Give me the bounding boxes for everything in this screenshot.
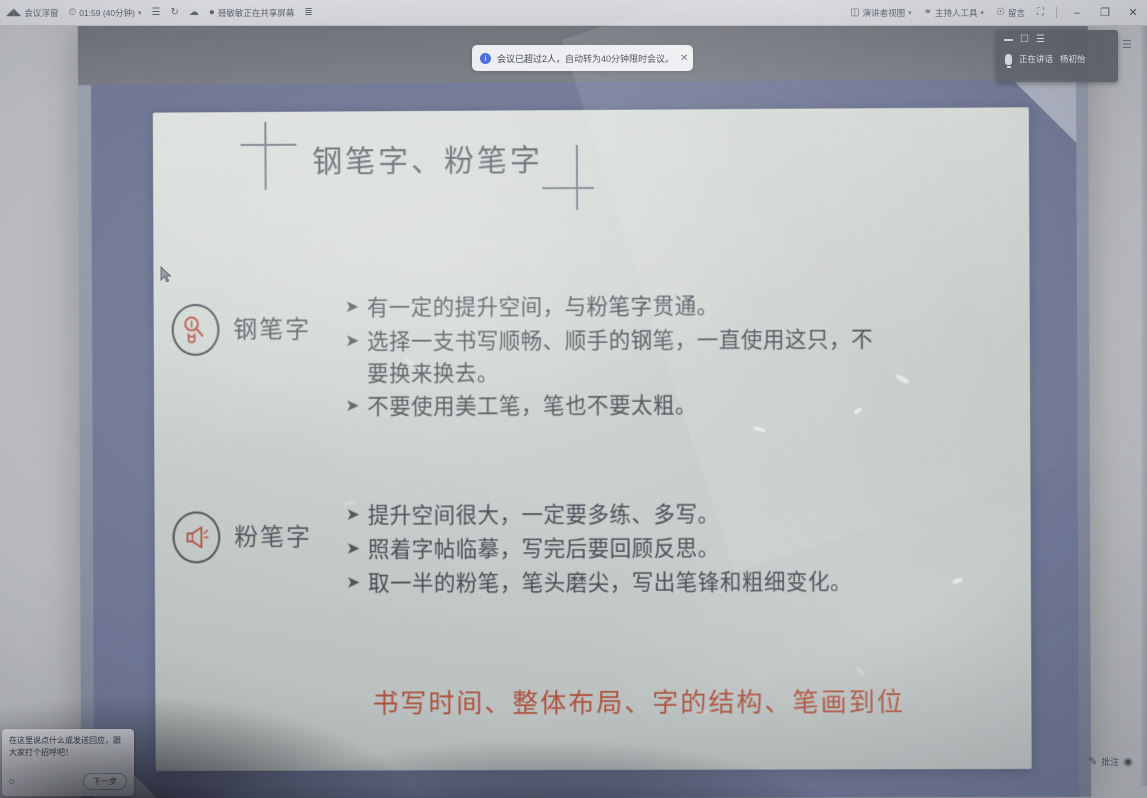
toolbar-right-group: ◫ 演讲者视图 ▾ ⚭ 主持人工具 ▾ ☉ 留言 ⛶ – ❐ ✕ bbox=[850, 6, 1147, 19]
info-icon: i bbox=[480, 53, 491, 64]
meeting-toolbar: ◢◣ 会议浮窗 ⏲ 01:59 (40分钟) ▾ ☰ ↻ ☁ ● 聂敏敏正在共享… bbox=[0, 0, 1147, 26]
refresh-icon: ↻ bbox=[170, 8, 178, 18]
cross-vertical bbox=[264, 122, 266, 190]
bullet-list-pen: ➤ 有一定的提升空间，与粉笔字贯通。 ➤ 选择一支书写顺畅、顺手的钢笔，一直使用… bbox=[345, 291, 876, 427]
dust-speck bbox=[952, 577, 963, 584]
dust-speck bbox=[895, 374, 910, 385]
network-signal-button[interactable]: ☰ bbox=[151, 8, 160, 18]
speaker-float-panel[interactable]: ☐ ☰ 正在讲话 杨初怡 bbox=[996, 30, 1118, 82]
cross-horizontal bbox=[241, 144, 297, 146]
bullet-text: 照着字帖临摹，写完后要回顾反思。 bbox=[368, 533, 876, 567]
cross-mark-icon-right bbox=[542, 145, 594, 210]
presenter-view-button[interactable]: ◫ 演讲者视图 ▾ bbox=[850, 7, 911, 19]
cloud-icon: ☁ bbox=[189, 8, 199, 18]
chevron-down-icon: ▾ bbox=[908, 9, 912, 17]
section-label-pen: 钢笔字 bbox=[233, 309, 311, 344]
fullscreen-icon: ⛶ bbox=[1037, 8, 1044, 18]
comment-icon: ☉ bbox=[996, 8, 1005, 18]
meeting-float-label: 会议浮窗 bbox=[24, 7, 58, 19]
pen-glyph bbox=[183, 315, 209, 345]
window-minimize-button[interactable]: – bbox=[1069, 7, 1085, 19]
bullet-arrow-icon: ➤ bbox=[346, 535, 368, 562]
bullet-arrow-icon: ➤ bbox=[345, 293, 367, 320]
window-maximize-button[interactable]: ❐ bbox=[1097, 6, 1113, 19]
emoji-icon[interactable] bbox=[9, 779, 14, 784]
chevron-down-icon: ▾ bbox=[138, 9, 142, 17]
fullscreen-button[interactable]: ⛶ bbox=[1037, 8, 1044, 18]
bullet-item: ➤ 有一定的提升空间，与粉笔字贯通。 bbox=[345, 291, 875, 325]
slide-section-pen: 钢笔字 ➤ 有一定的提升空间，与粉笔字贯通。 ➤ 选择一支书写顺畅、顺手的钢笔，… bbox=[171, 291, 875, 427]
share-screen-label: 聂敏敏正在共享屏幕 bbox=[218, 7, 295, 19]
dust-speck bbox=[753, 426, 766, 433]
refresh-button[interactable]: ↻ bbox=[170, 8, 178, 18]
bullet-item: ➤ 照着字帖临摹，写完后要回顾反思。 bbox=[346, 533, 876, 567]
meeting-timer-label: 01:59 (40分钟) bbox=[79, 7, 135, 19]
presenter-view-label: 演讲者视图 bbox=[863, 7, 906, 19]
projected-screen-area: 钢笔字、粉笔字 钢笔字 ➤ bbox=[78, 19, 1091, 798]
toolbar-divider bbox=[1056, 7, 1057, 18]
float-panel-body: 正在讲话 杨初怡 bbox=[996, 50, 1118, 65]
host-tools-label: 主持人工具 bbox=[935, 7, 978, 19]
timer-icon: ⏲ bbox=[68, 8, 76, 18]
annotate-toolbar[interactable]: ✎ 批注 ◉ bbox=[1088, 755, 1133, 768]
bullet-text: 有一定的提升空间，与粉笔字贯通。 bbox=[367, 291, 875, 325]
host-tools-button[interactable]: ⚭ 主持人工具 ▾ bbox=[924, 7, 984, 19]
notification-text: 会议已超过2人，自动转为40分钟限时会议。 bbox=[497, 52, 674, 65]
list-icon[interactable]: ☰ bbox=[1036, 35, 1045, 45]
bullet-item: ➤ 提升空间很大，一定要多练、多写。 bbox=[346, 499, 876, 533]
meeting-duration-notification: i 会议已超过2人，自动转为40分钟限时会议。 ✕ bbox=[472, 45, 693, 71]
signal-icon: ☰ bbox=[151, 8, 160, 18]
bullet-arrow-icon: ➤ bbox=[345, 327, 367, 354]
comment-label: 留言 bbox=[1008, 7, 1025, 19]
next-step-button[interactable]: 下一步 bbox=[83, 773, 127, 790]
chat-prompt-popup[interactable]: 在这里说点什么或发送回应，跟大家打个招呼吧！ 下一步 bbox=[2, 729, 134, 796]
slide-border-frame: 钢笔字、粉笔字 钢笔字 ➤ bbox=[91, 79, 1079, 798]
window-icon[interactable]: ☐ bbox=[1020, 35, 1029, 45]
panel-menu-icon[interactable]: ☰ bbox=[1122, 38, 1132, 51]
bullet-list-chalk: ➤ 提升空间很大，一定要多练、多写。 ➤ 照着字帖临摹，写完后要回顾反思。 ➤ … bbox=[346, 499, 877, 602]
window-close-button[interactable]: ✕ bbox=[1125, 6, 1141, 19]
chat-prompt-text: 在这里说点什么或发送回应，跟大家打个招呼吧！ bbox=[9, 735, 127, 758]
ai-assistant-icon: ⚭ bbox=[924, 8, 932, 18]
chat-prompt-footer: 下一步 bbox=[9, 773, 127, 790]
photographed-screen: ◢◣ 会议浮窗 ⏲ 01:59 (40分钟) ▾ ☰ ↻ ☁ ● 聂敏敏正在共享… bbox=[0, 0, 1147, 798]
presentation-slide: 钢笔字、粉笔字 钢笔字 ➤ bbox=[153, 107, 1032, 771]
toolbar-left-group: ◢◣ 会议浮窗 ⏲ 01:59 (40分钟) ▾ ☰ ↻ ☁ ● 聂敏敏正在共享… bbox=[0, 7, 313, 19]
speaker-name-label: 杨初怡 bbox=[1060, 53, 1086, 65]
more-menu-button[interactable]: ≣ bbox=[304, 8, 312, 18]
slide-section-chalk: 粉笔字 ➤ 提升空间很大，一定要多练、多写。 ➤ 照着字帖临摹，写完后要回顾反思… bbox=[172, 499, 876, 603]
bullet-arrow-icon: ➤ bbox=[345, 392, 367, 419]
meeting-timer[interactable]: ⏲ 01:59 (40分钟) ▾ bbox=[68, 7, 141, 19]
bullet-item: ➤ 选择一支书写顺畅、顺手的钢笔，一直使用这只，不要换来换去。 bbox=[345, 324, 875, 390]
bullet-text: 不要使用美工笔，笔也不要太粗。 bbox=[367, 390, 875, 424]
microphone-icon bbox=[1005, 54, 1012, 65]
float-panel-header: ☐ ☰ bbox=[996, 30, 1118, 50]
pen-circle-icon bbox=[172, 304, 220, 356]
window-right-edge bbox=[1141, 26, 1147, 786]
megaphone-circle-icon bbox=[172, 511, 220, 563]
bullet-item: ➤ 不要使用美工笔，笔也不要太粗。 bbox=[345, 390, 875, 424]
settings-icon[interactable]: ◉ bbox=[1123, 755, 1133, 768]
bullet-item: ➤ 取一半的粉笔，笔头磨尖，写出笔锋和粗细变化。 bbox=[346, 567, 876, 601]
bullet-text: 选择一支书写顺畅、顺手的钢笔，一直使用这只，不要换来换去。 bbox=[367, 324, 875, 390]
pen-icon[interactable]: ✎ bbox=[1088, 755, 1097, 768]
chevron-down-icon: ▾ bbox=[981, 9, 985, 17]
meeting-float-window-button[interactable]: ◢◣ 会议浮窗 bbox=[6, 7, 58, 19]
close-icon[interactable]: ✕ bbox=[680, 53, 688, 64]
section-label-chalk: 粉笔字 bbox=[234, 517, 312, 552]
bullet-text: 取一半的粉笔，笔头磨尖，写出笔锋和粗细变化。 bbox=[368, 567, 876, 601]
share-screen-icon: ● bbox=[209, 8, 215, 18]
slide-title: 钢笔字、粉笔字 bbox=[312, 135, 543, 180]
bullet-arrow-icon: ➤ bbox=[346, 501, 368, 528]
bullet-arrow-icon: ➤ bbox=[346, 568, 368, 595]
screen-share-status[interactable]: ● 聂敏敏正在共享屏幕 bbox=[209, 7, 295, 19]
annotate-label: 批注 bbox=[1101, 755, 1119, 768]
minimize-icon[interactable] bbox=[1004, 39, 1013, 41]
cross-mark-icon-left bbox=[240, 122, 296, 190]
meeting-logo-icon: ◢◣ bbox=[6, 8, 21, 18]
comment-button[interactable]: ☉ 留言 bbox=[996, 7, 1025, 19]
speaking-status-label: 正在讲话 bbox=[1019, 53, 1053, 65]
cloud-record-button[interactable]: ☁ bbox=[189, 8, 199, 18]
cross-horizontal bbox=[542, 187, 594, 189]
more-menu-icon: ≣ bbox=[304, 8, 312, 18]
megaphone-glyph bbox=[183, 524, 209, 550]
slide-footer-highlight: 书写时间、整体布局、字的结构、笔画到位 bbox=[372, 682, 904, 720]
bullet-text: 提升空间很大，一定要多练、多写。 bbox=[368, 499, 876, 533]
dust-speck bbox=[855, 666, 865, 677]
presenter-icon: ◫ bbox=[850, 8, 859, 18]
cross-vertical bbox=[576, 145, 578, 210]
